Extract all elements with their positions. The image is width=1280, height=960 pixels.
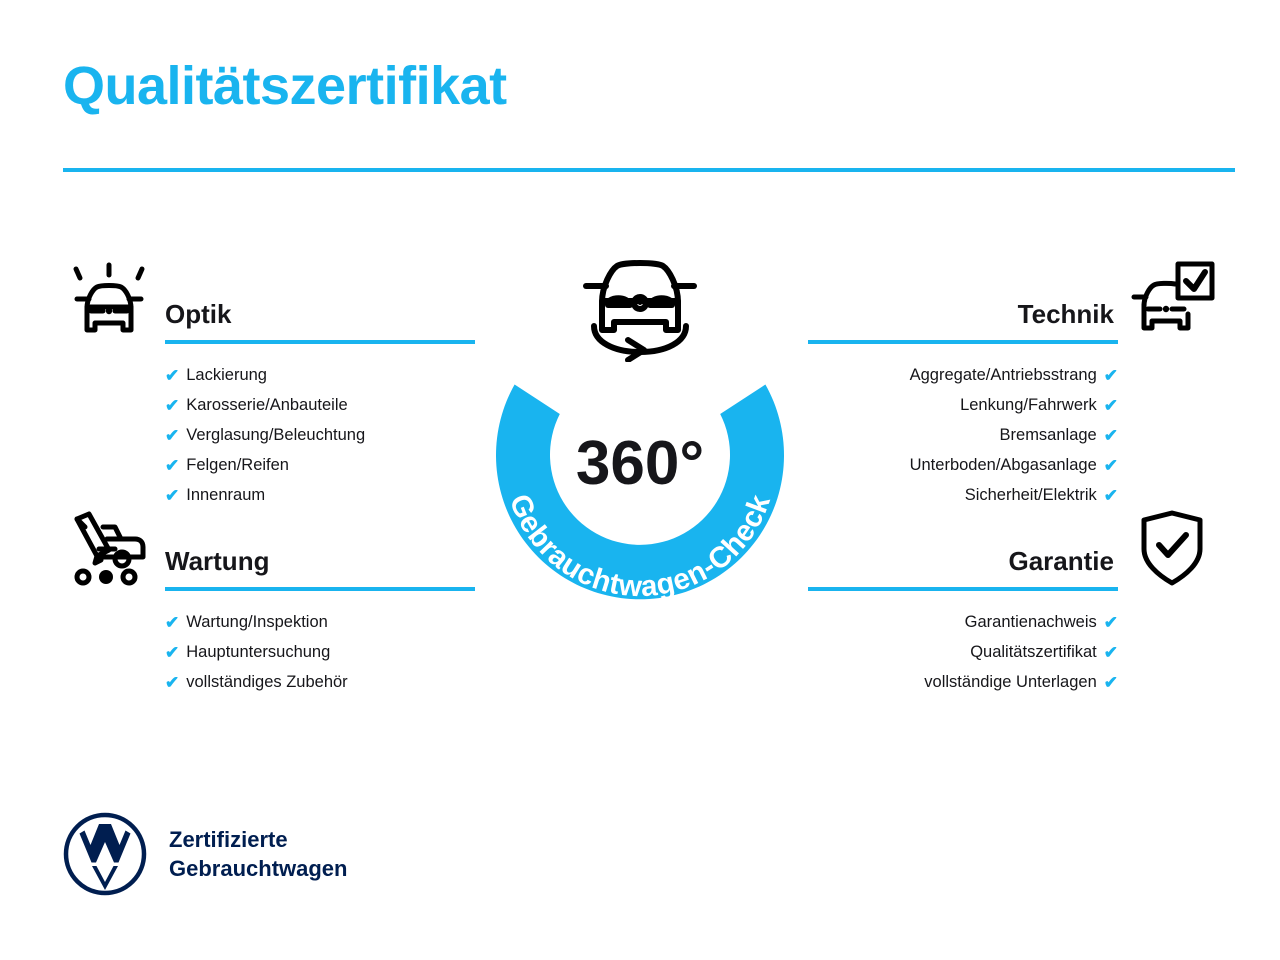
list-item: Garantienachweis✔: [800, 607, 1118, 637]
car-shine-icon: [63, 258, 155, 344]
check-icon: ✔: [1104, 457, 1118, 474]
check-icon: ✔: [165, 487, 179, 504]
section-garantie: Garantie Garantienachweis✔ Qualitätszert…: [800, 505, 1218, 697]
list-item: Qualitätszertifikat✔: [800, 637, 1118, 667]
list-item-label: Lenkung/Fahrwerk: [960, 390, 1097, 420]
list-item-label: Unterboden/Abgasanlage: [910, 450, 1097, 480]
list-item-label: vollständige Unterlagen: [924, 667, 1096, 697]
checklist-technik: Aggregate/Antriebsstrang✔ Lenkung/Fahrwe…: [800, 360, 1218, 510]
check-icon: ✔: [165, 427, 179, 444]
section-underline: [165, 340, 475, 344]
check-icon: ✔: [1104, 367, 1118, 384]
list-item: ✔Karosserie/Anbauteile: [165, 390, 475, 420]
certificate-page: Qualitätszertifikat Optik: [0, 0, 1280, 960]
check-icon: ✔: [1104, 397, 1118, 414]
checklist-garantie: Garantienachweis✔ Qualitätszertifikat✔ v…: [800, 607, 1218, 697]
section-header: Technik: [800, 258, 1218, 344]
section-underline: [808, 340, 1118, 344]
footer-line-1: Zertifizierte: [169, 825, 347, 854]
section-title: Garantie: [1009, 546, 1115, 577]
check-icon: ✔: [1104, 674, 1118, 691]
shield-check-icon: [1126, 505, 1218, 591]
check-icon: ✔: [165, 644, 179, 661]
section-header: Wartung: [63, 505, 475, 591]
check-icon: ✔: [165, 674, 179, 691]
list-item: Aggregate/Antriebsstrang✔: [800, 360, 1118, 390]
list-item-label: Felgen/Reifen: [186, 450, 289, 480]
section-underline: [808, 587, 1118, 591]
list-item-label: vollständiges Zubehör: [186, 667, 347, 697]
car-rotation-icon: [554, 250, 726, 362]
section-title: Optik: [165, 299, 231, 330]
list-item: vollständige Unterlagen✔: [800, 667, 1118, 697]
section-wartung: Wartung ✔Wartung/Inspektion ✔Hauptunters…: [63, 505, 475, 697]
volkswagen-logo: [63, 812, 147, 896]
list-item-label: Lackierung: [186, 360, 267, 390]
list-item-label: Hauptuntersuchung: [186, 637, 330, 667]
footer-line-2: Gebrauchtwagen: [169, 854, 347, 883]
check-icon: ✔: [1104, 487, 1118, 504]
list-item-label: Aggregate/Antriebsstrang: [910, 360, 1097, 390]
check-icon: ✔: [165, 457, 179, 474]
list-item-label: Karosserie/Anbauteile: [186, 390, 347, 420]
footer-text: Zertifizierte Gebrauchtwagen: [169, 825, 347, 883]
section-header: Optik: [63, 258, 475, 344]
section-title: Technik: [1018, 299, 1114, 330]
list-item: Unterboden/Abgasanlage✔: [800, 450, 1118, 480]
badge-center-label: 360°: [576, 429, 704, 498]
check-icon: ✔: [1104, 614, 1118, 631]
check-icon: ✔: [165, 397, 179, 414]
check-icon: ✔: [1104, 427, 1118, 444]
list-item-label: Bremsanlage: [1000, 420, 1097, 450]
section-optik: Optik ✔Lackierung ✔Karosserie/Anbauteile…: [63, 258, 475, 510]
gebrauchtwagen-check-badge: 360° Gebrauchtwagen-Check: [468, 288, 812, 632]
list-item-label: Qualitätszertifikat: [970, 637, 1097, 667]
check-icon: ✔: [165, 367, 179, 384]
check-icon: ✔: [1104, 644, 1118, 661]
list-item: Lenkung/Fahrwerk✔: [800, 390, 1118, 420]
list-item: ✔Hauptuntersuchung: [165, 637, 475, 667]
section-header: Garantie: [800, 505, 1218, 591]
footer-brand: Zertifizierte Gebrauchtwagen: [63, 812, 347, 896]
page-title: Qualitätszertifikat: [63, 57, 507, 116]
checklist-optik: ✔Lackierung ✔Karosserie/Anbauteile ✔Verg…: [63, 360, 475, 510]
section-underline: [165, 587, 475, 591]
car-checkbox-icon: [1126, 258, 1218, 344]
list-item: ✔Wartung/Inspektion: [165, 607, 475, 637]
list-item-label: Verglasung/Beleuchtung: [186, 420, 365, 450]
list-item-label: Wartung/Inspektion: [186, 607, 328, 637]
list-item: ✔vollständiges Zubehör: [165, 667, 475, 697]
checklist-wartung: ✔Wartung/Inspektion ✔Hauptuntersuchung ✔…: [63, 607, 475, 697]
list-item-label: Garantienachweis: [965, 607, 1097, 637]
section-technik: Technik Aggregate/Antriebsstrang✔ Lenkun…: [800, 258, 1218, 510]
list-item: ✔Felgen/Reifen: [165, 450, 475, 480]
list-item: Bremsanlage✔: [800, 420, 1118, 450]
header-divider: [63, 168, 1235, 172]
check-icon: ✔: [165, 614, 179, 631]
section-title: Wartung: [165, 546, 269, 577]
service-book-pen-car-icon: [63, 505, 155, 591]
list-item: ✔Lackierung: [165, 360, 475, 390]
list-item: ✔Verglasung/Beleuchtung: [165, 420, 475, 450]
